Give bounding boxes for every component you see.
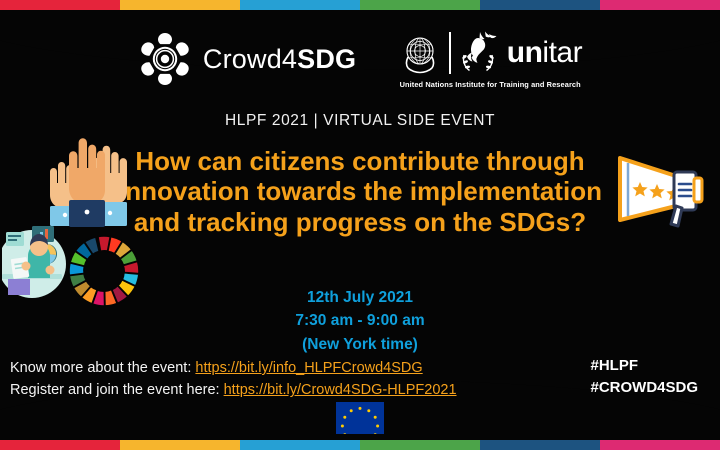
crowd4sdg-word-prefix: Crowd4 [203, 44, 297, 74]
sdg-color-wheel-icon [62, 232, 146, 310]
list-item: Register and join the event here: https:… [10, 379, 457, 401]
unitar-logo: unitar United Nations Institute for Trai… [398, 28, 582, 89]
link-list: Know more about the event: https://bit.l… [10, 357, 457, 401]
list-item: Know more about the event: https://bit.l… [10, 357, 457, 379]
logo-divider [449, 32, 451, 74]
hashtag-hlpf: #HLPF [590, 355, 698, 377]
crowd4sdg-flower-icon [138, 32, 192, 86]
un-emblem-icon [398, 31, 442, 75]
crowd4sdg-word-suffix: SDG [297, 44, 356, 74]
logo-row: Crowd4SDG [0, 28, 720, 98]
raised-hands-illustration [34, 138, 140, 230]
hashtag-list: #HLPF #CROWD4SDG [590, 355, 698, 399]
info-link-label: Know more about the event: [10, 360, 195, 376]
hashtag-crowd4sdg: #CROWD4SDG [590, 377, 698, 399]
crowd4sdg-wordmark: Crowd4SDG [203, 44, 356, 75]
unitar-word-suffix: itar [542, 36, 582, 69]
register-link[interactable]: https://bit.ly/Crowd4SDG-HLPF2021 [224, 382, 457, 398]
event-timezone: (New York time) [0, 333, 720, 356]
crowd4sdg-logo: Crowd4SDG [138, 28, 356, 86]
register-link-label: Register and join the event here: [10, 382, 224, 398]
unitar-wordmark: unitar [507, 38, 582, 68]
unitar-word-prefix: un [507, 36, 543, 69]
info-link[interactable]: https://bit.ly/info_HLPFCrowd4SDG [195, 360, 422, 376]
unitar-tagline: United Nations Institute for Training an… [400, 80, 581, 89]
event-poster: Crowd4SDG [0, 0, 720, 450]
european-union-flag-icon [336, 402, 384, 434]
event-time: 7:30 am - 9:00 am [0, 309, 720, 332]
page-title: How can citizens contribute through inno… [110, 146, 610, 237]
megaphone-illustration [604, 138, 712, 234]
unitar-dove-icon [458, 30, 498, 76]
event-eyebrow: HLPF 2021 | VIRTUAL SIDE EVENT [0, 112, 720, 130]
data-analyst-illustration [2, 222, 66, 304]
